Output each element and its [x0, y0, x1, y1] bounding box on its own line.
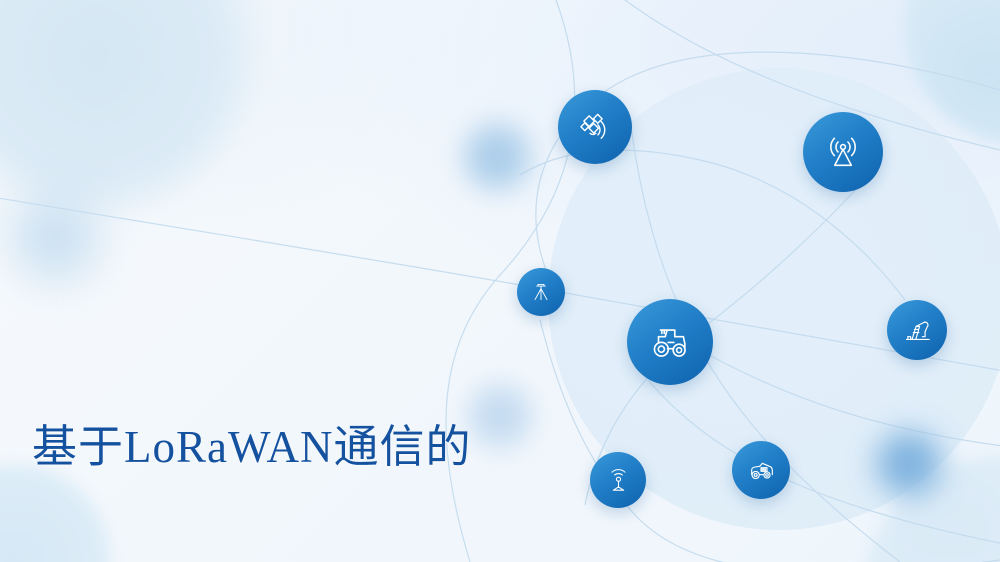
node-satellite[interactable] — [558, 90, 632, 164]
node-harvester[interactable] — [732, 441, 790, 499]
broadcast-tower-icon — [821, 130, 865, 174]
satellite-dish-icon — [575, 107, 615, 147]
tractor-icon — [647, 319, 693, 365]
bottom-right-corner-blob — [860, 455, 1000, 562]
top-right-corner-blob — [905, 0, 1000, 145]
node-sensor[interactable] — [590, 452, 646, 508]
center-dot-upper-blob — [455, 115, 539, 199]
slide-title: 基于LoRaWAN通信的 智慧井盖监测解决方案 — [32, 232, 592, 562]
wireless-sensor-icon — [603, 465, 634, 496]
harvester-vehicle-icon — [745, 454, 777, 486]
title-line-1: 基于LoRaWAN通信的 — [32, 404, 592, 490]
bottom-right-dot-blob — [868, 423, 950, 505]
presentation-cover-slide: 基于LoRaWAN通信的 智慧井盖监测解决方案 — [0, 0, 1000, 562]
oil-pumpjack-icon — [901, 314, 934, 347]
node-antenna[interactable] — [803, 112, 883, 192]
node-tractor[interactable] — [627, 299, 713, 385]
node-pumpjack[interactable] — [887, 300, 947, 360]
top-left-blob — [0, 0, 260, 220]
